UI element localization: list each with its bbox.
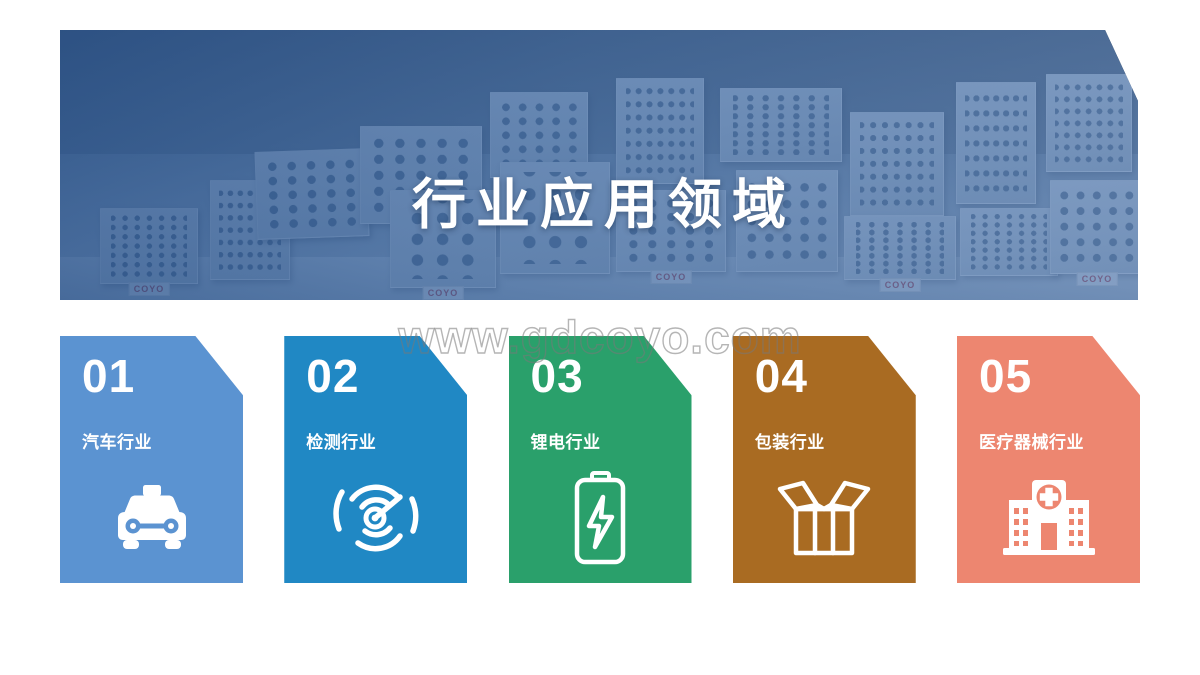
card-number: 02	[306, 353, 359, 399]
industry-card-lithium-battery[interactable]: 03 锂电行业	[509, 336, 692, 583]
open-box-icon	[774, 479, 874, 557]
card-icon-wrapper	[733, 468, 916, 568]
card-label: 检测行业	[306, 428, 376, 453]
card-label: 锂电行业	[531, 428, 601, 453]
industry-card-packaging[interactable]: 04 包装行业	[733, 336, 916, 583]
card-number: 03	[531, 353, 584, 399]
slide-canvas: COYO COYO COYO COYO COYO 行业应用领域 www.gdco…	[0, 0, 1200, 675]
hospital-icon	[999, 478, 1099, 558]
industry-card-automotive[interactable]: 01 汽车行业	[60, 336, 243, 583]
card-label: 包装行业	[755, 428, 825, 453]
page-title: 行业应用领域	[60, 178, 1138, 232]
card-number: 05	[979, 353, 1032, 399]
industry-card-medical-device[interactable]: 05 医疗器械行业	[957, 336, 1140, 583]
battery-bolt-icon	[567, 471, 633, 565]
card-icon-wrapper	[284, 468, 467, 568]
card-number: 01	[82, 353, 135, 399]
card-icon-wrapper	[957, 468, 1140, 568]
industry-card-row: 01 汽车行业 02 检测行业	[60, 336, 1140, 583]
radar-scan-icon	[330, 474, 422, 562]
car-icon	[109, 482, 195, 554]
industry-application-banner: COYO COYO COYO COYO COYO 行业应用领域	[60, 30, 1138, 300]
card-icon-wrapper	[509, 468, 692, 568]
card-label: 汽车行业	[82, 428, 152, 453]
industry-card-inspection[interactable]: 02 检测行业	[284, 336, 467, 583]
card-label: 医疗器械行业	[979, 428, 1084, 453]
blue-color-overlay	[60, 30, 1138, 300]
card-number: 04	[755, 353, 808, 399]
card-icon-wrapper	[60, 468, 243, 568]
